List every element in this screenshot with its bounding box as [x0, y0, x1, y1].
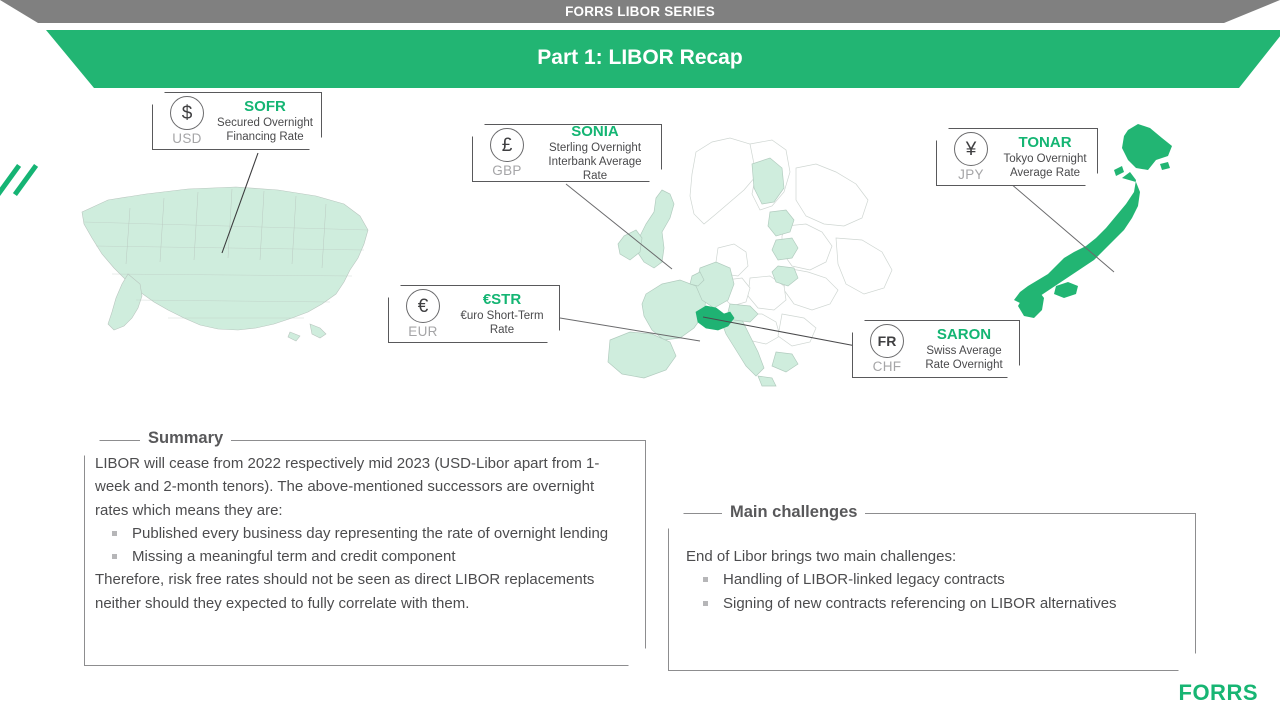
rate-desc-sonia-line1: Sterling Overnight: [537, 141, 653, 155]
rate-desc-saron-line1: Swiss Average: [917, 344, 1011, 358]
summary-panel-body: LIBOR will cease from 2022 respectively …: [95, 452, 627, 615]
franc-symbol-icon: FR: [870, 324, 904, 358]
currency-card-sonia[interactable]: £ GBP SONIA Sterling Overnight Interbank…: [472, 124, 662, 182]
currency-card-tonar[interactable]: ¥ JPY TONAR Tokyo Overnight Average Rate: [936, 128, 1098, 186]
currency-code-eur: EUR: [395, 324, 451, 339]
list-item: Handling of LIBOR-linked legacy contract…: [686, 568, 1186, 591]
rate-desc-tonar-line2: Average Rate: [1001, 166, 1089, 180]
rate-desc-tonar-line1: Tokyo Overnight: [1001, 152, 1089, 166]
currency-code-gbp: GBP: [479, 163, 535, 178]
summary-panel-title: Summary: [140, 429, 231, 448]
currency-coin-gbp: £ GBP: [479, 128, 535, 178]
list-item: Signing of new contracts referencing on …: [686, 592, 1186, 615]
currency-card-saron[interactable]: FR CHF SARON Swiss Average Rate Overnigh…: [852, 320, 1020, 378]
challenges-paragraph-1: End of Libor brings two main challenges:: [686, 545, 1186, 568]
rate-desc-saron-line2: Rate Overnight: [917, 358, 1011, 372]
currency-card-estr[interactable]: € EUR €STR €uro Short-Term Rate: [388, 285, 560, 343]
currency-coin-chf: FR CHF: [859, 324, 915, 374]
series-banner-label: FORRS LIBOR SERIES: [0, 0, 1280, 23]
currency-text-sonia: SONIA Sterling Overnight Interbank Avera…: [535, 123, 655, 183]
forrs-logo: FORRS: [1179, 680, 1259, 706]
summary-bullet-list: Published every business day representin…: [95, 522, 627, 569]
currency-text-sofr: SOFR Secured Overnight Financing Rate: [215, 98, 315, 144]
rate-desc-sofr-line2: Financing Rate: [217, 130, 313, 144]
rate-desc-estr-line2: Rate: [453, 323, 551, 337]
rate-desc-sonia-line2: Interbank Average Rate: [537, 155, 653, 183]
rate-name-estr: €STR: [453, 291, 551, 308]
rate-name-sonia: SONIA: [537, 123, 653, 140]
currency-text-tonar: TONAR Tokyo Overnight Average Rate: [999, 134, 1091, 180]
rate-desc-sofr-line1: Secured Overnight: [217, 116, 313, 130]
rate-name-sofr: SOFR: [217, 98, 313, 115]
yen-symbol-icon: ¥: [954, 132, 988, 166]
currency-code-jpy: JPY: [943, 167, 999, 182]
challenges-panel-title: Main challenges: [722, 503, 865, 522]
currency-coin-jpy: ¥ JPY: [943, 132, 999, 182]
currency-text-saron: SARON Swiss Average Rate Overnight: [915, 326, 1013, 372]
currency-text-estr: €STR €uro Short-Term Rate: [451, 291, 553, 337]
dollar-symbol-icon: $: [170, 96, 204, 130]
rate-name-saron: SARON: [917, 326, 1011, 343]
euro-symbol-icon: €: [406, 289, 440, 323]
currency-card-sofr[interactable]: $ USD SOFR Secured Overnight Financing R…: [152, 92, 322, 150]
summary-paragraph-1: LIBOR will cease from 2022 respectively …: [95, 452, 627, 522]
currency-coin-eur: € EUR: [395, 289, 451, 339]
currency-code-chf: CHF: [859, 359, 915, 374]
usa-map: [68, 178, 378, 358]
list-item: Published every business day representin…: [95, 522, 627, 545]
challenges-bullet-list: Handling of LIBOR-linked legacy contract…: [686, 568, 1186, 615]
slide-canvas: FORRS LIBOR SERIES Part 1: LIBOR Recap: [0, 0, 1280, 720]
page-title: Part 1: LIBOR Recap: [0, 30, 1280, 86]
challenges-panel-body: End of Libor brings two main challenges:…: [686, 545, 1186, 615]
rate-desc-estr-line1: €uro Short-Term: [453, 309, 551, 323]
summary-paragraph-2: Therefore, risk free rates should not be…: [95, 568, 627, 615]
currency-coin-usd: $ USD: [159, 96, 215, 146]
currency-code-usd: USD: [159, 131, 215, 146]
pound-symbol-icon: £: [490, 128, 524, 162]
list-item: Missing a meaningful term and credit com…: [95, 545, 627, 568]
rate-name-tonar: TONAR: [1001, 134, 1089, 151]
